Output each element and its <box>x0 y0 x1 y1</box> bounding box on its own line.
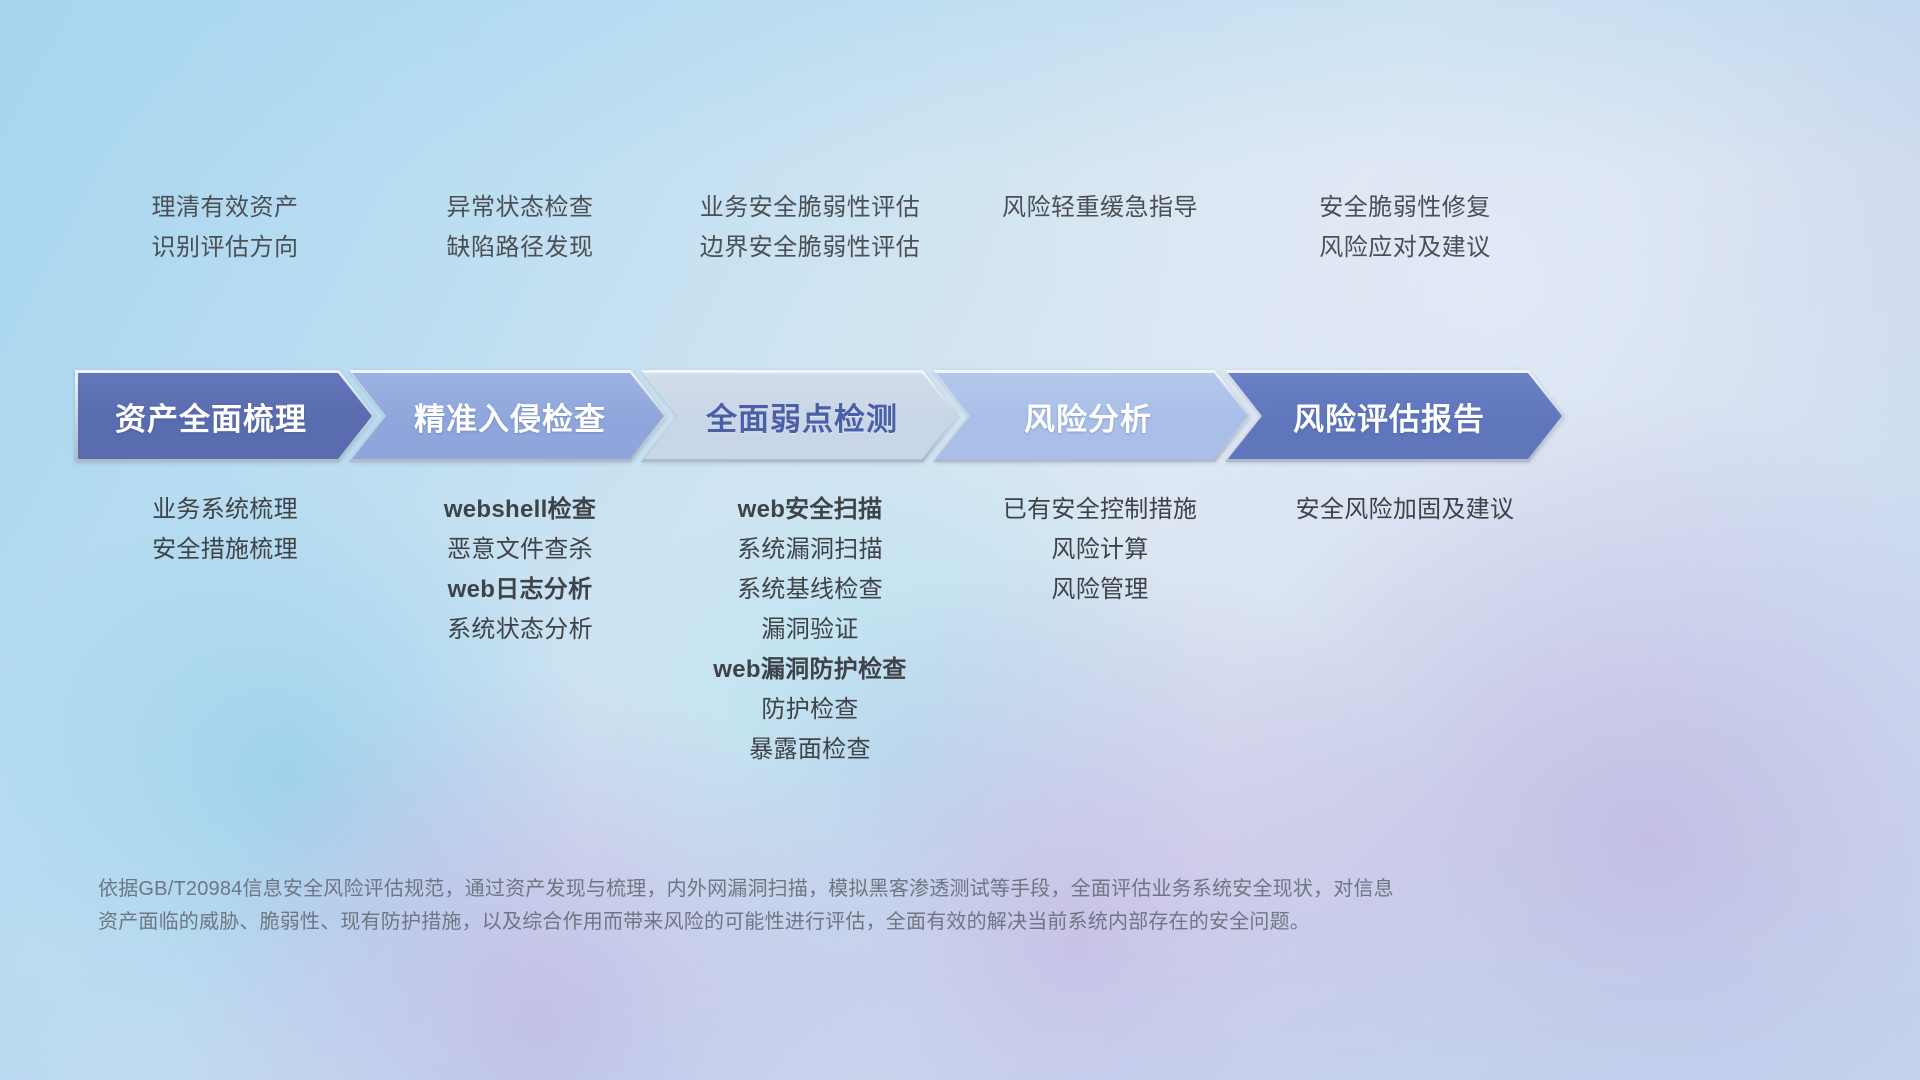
chevron-fill <box>644 373 956 459</box>
list-item: 防护检查 <box>665 690 955 730</box>
chevron-stage-1[interactable]: 资产全面梳理 <box>75 370 375 462</box>
chevron-stage-2[interactable]: 精准入侵检查 <box>349 370 667 462</box>
list-item: 暴露面检查 <box>665 730 955 770</box>
chevron-fill <box>1228 373 1562 459</box>
list-item: web安全扫描 <box>665 490 955 530</box>
footer-description: 依据GB/T20984信息安全风险评估规范，通过资产发现与梳理，内外网漏洞扫描，… <box>98 873 1608 939</box>
bottom-list-row: 业务系统梳理安全措施梳理 webshell检查恶意文件查杀web日志分析系统状态… <box>75 490 1860 770</box>
bottom-list-stage-1: 业务系统梳理安全措施梳理 <box>75 490 375 570</box>
top-label: 异常状态检查 <box>375 188 665 228</box>
list-item: 风险管理 <box>955 570 1245 610</box>
list-item: web日志分析 <box>375 570 665 610</box>
chevron-fill <box>936 373 1248 459</box>
chevron-fill <box>78 373 372 459</box>
list-item: 恶意文件查杀 <box>375 530 665 570</box>
top-label: 业务安全脆弱性评估 <box>665 188 955 228</box>
list-item: 系统基线检查 <box>665 570 955 610</box>
list-item: 漏洞验证 <box>665 610 955 650</box>
footer-line-1: 依据GB/T20984信息安全风险评估规范，通过资产发现与梳理，内外网漏洞扫描，… <box>98 873 1608 906</box>
list-item: web漏洞防护检查 <box>665 650 955 690</box>
chevron-band: 资产全面梳理 精准入侵检查 全面弱点检测 风险分析 风险评估报告 <box>75 370 1539 462</box>
top-label: 理清有效资产 <box>75 188 375 228</box>
list-item: 系统漏洞扫描 <box>665 530 955 570</box>
top-label: 缺陷路径发现 <box>375 228 665 268</box>
bottom-list-stage-2: webshell检查恶意文件查杀web日志分析系统状态分析 <box>375 490 665 650</box>
top-labels-stage-2: 异常状态检查 缺陷路径发现 <box>375 188 665 268</box>
bottom-list-stage-4: 已有安全控制措施风险计算风险管理 <box>955 490 1245 610</box>
process-diagram: 理清有效资产 识别评估方向 异常状态检查 缺陷路径发现 业务安全脆弱性评估 边界… <box>0 0 1920 1080</box>
chevron-stage-5[interactable]: 风险评估报告 <box>1225 370 1565 462</box>
top-label: 风险轻重缓急指导 <box>955 188 1245 228</box>
list-item: 系统状态分析 <box>375 610 665 650</box>
top-label-row: 理清有效资产 识别评估方向 异常状态检查 缺陷路径发现 业务安全脆弱性评估 边界… <box>75 188 1860 268</box>
list-item: 风险计算 <box>955 530 1245 570</box>
footer-line-2: 资产面临的威胁、脆弱性、现有防护措施，以及综合作用而带来风险的可能性进行评估，全… <box>98 906 1608 939</box>
top-label: 边界安全脆弱性评估 <box>665 228 955 268</box>
top-labels-stage-4: 风险轻重缓急指导 <box>955 188 1245 228</box>
list-item: 已有安全控制措施 <box>955 490 1245 530</box>
top-label: 安全脆弱性修复 <box>1245 188 1565 228</box>
chevron-stage-4[interactable]: 风险分析 <box>933 370 1251 462</box>
chevron-stage-3[interactable]: 全面弱点检测 <box>641 370 959 462</box>
list-item: 安全措施梳理 <box>75 530 375 570</box>
list-item: 安全风险加固及建议 <box>1245 490 1565 530</box>
top-labels-stage-3: 业务安全脆弱性评估 边界安全脆弱性评估 <box>665 188 955 268</box>
top-label: 风险应对及建议 <box>1245 228 1565 268</box>
chevron-fill <box>352 373 664 459</box>
list-item: webshell检查 <box>375 490 665 530</box>
top-label: 识别评估方向 <box>75 228 375 268</box>
list-item: 业务系统梳理 <box>75 490 375 530</box>
bottom-list-stage-3: web安全扫描系统漏洞扫描系统基线检查漏洞验证web漏洞防护检查防护检查暴露面检… <box>665 490 955 770</box>
bottom-list-stage-5: 安全风险加固及建议 <box>1245 490 1565 530</box>
top-labels-stage-1: 理清有效资产 识别评估方向 <box>75 188 375 268</box>
top-labels-stage-5: 安全脆弱性修复 风险应对及建议 <box>1245 188 1565 268</box>
